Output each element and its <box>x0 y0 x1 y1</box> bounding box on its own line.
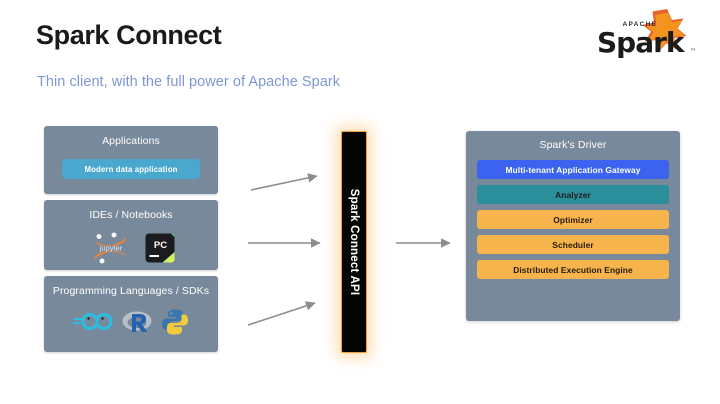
svg-text:jupyter: jupyter <box>98 244 122 253</box>
driver-layer-gateway[interactable]: Multi-tenant Application Gateway <box>477 160 669 179</box>
apache-spark-logo: APACHE Spark ™ <box>592 6 702 60</box>
arrow-applications-to-api <box>251 176 317 190</box>
jupyter-logo: jupyter <box>88 230 134 266</box>
driver-layer-analyzer[interactable]: Analyzer <box>477 185 669 204</box>
slide-canvas: Spark Connect Thin client, with the full… <box>0 0 720 404</box>
client-card-languages-sdks[interactable]: Programming Languages / SDKs <box>44 276 218 352</box>
client-stack: Applications Modern data application IDE… <box>44 126 218 358</box>
language-logo-row <box>52 303 210 341</box>
spark-wordmark: Spark <box>597 26 686 59</box>
modern-data-application-pill[interactable]: Modern data application <box>62 159 200 179</box>
client-card-ides-notebooks[interactable]: IDEs / Notebooks jupyter <box>44 200 218 270</box>
driver-layer-execution-engine[interactable]: Distributed Execution Engine <box>477 260 669 279</box>
sparks-driver-title: Spark's Driver <box>477 139 669 151</box>
go-logo <box>73 311 113 333</box>
driver-layer-scheduler[interactable]: Scheduler <box>477 235 669 254</box>
client-card-label: IDEs / Notebooks <box>52 209 210 222</box>
spark-connect-api-bar[interactable]: Spark Connect API <box>341 131 367 353</box>
python-logo <box>161 308 189 336</box>
client-card-label: Programming Languages / SDKs <box>52 285 210 298</box>
client-card-applications[interactable]: Applications Modern data application <box>44 126 218 194</box>
arrow-languages-to-api <box>248 303 315 325</box>
ide-logo-row: jupyter PC <box>52 229 210 267</box>
sparks-driver-panel: Spark's Driver Multi-tenant Application … <box>466 131 680 321</box>
svg-text:™: ™ <box>690 48 696 54</box>
svg-text:PC: PC <box>153 240 166 251</box>
driver-layer-optimizer[interactable]: Optimizer <box>477 210 669 229</box>
page-title: Spark Connect <box>36 20 221 51</box>
r-logo <box>122 309 152 335</box>
client-card-label: Applications <box>52 135 210 148</box>
pycharm-logo: PC <box>145 233 175 263</box>
spark-connect-api-label: Spark Connect API <box>348 189 360 296</box>
page-subtitle: Thin client, with the full power of Apac… <box>37 74 340 90</box>
